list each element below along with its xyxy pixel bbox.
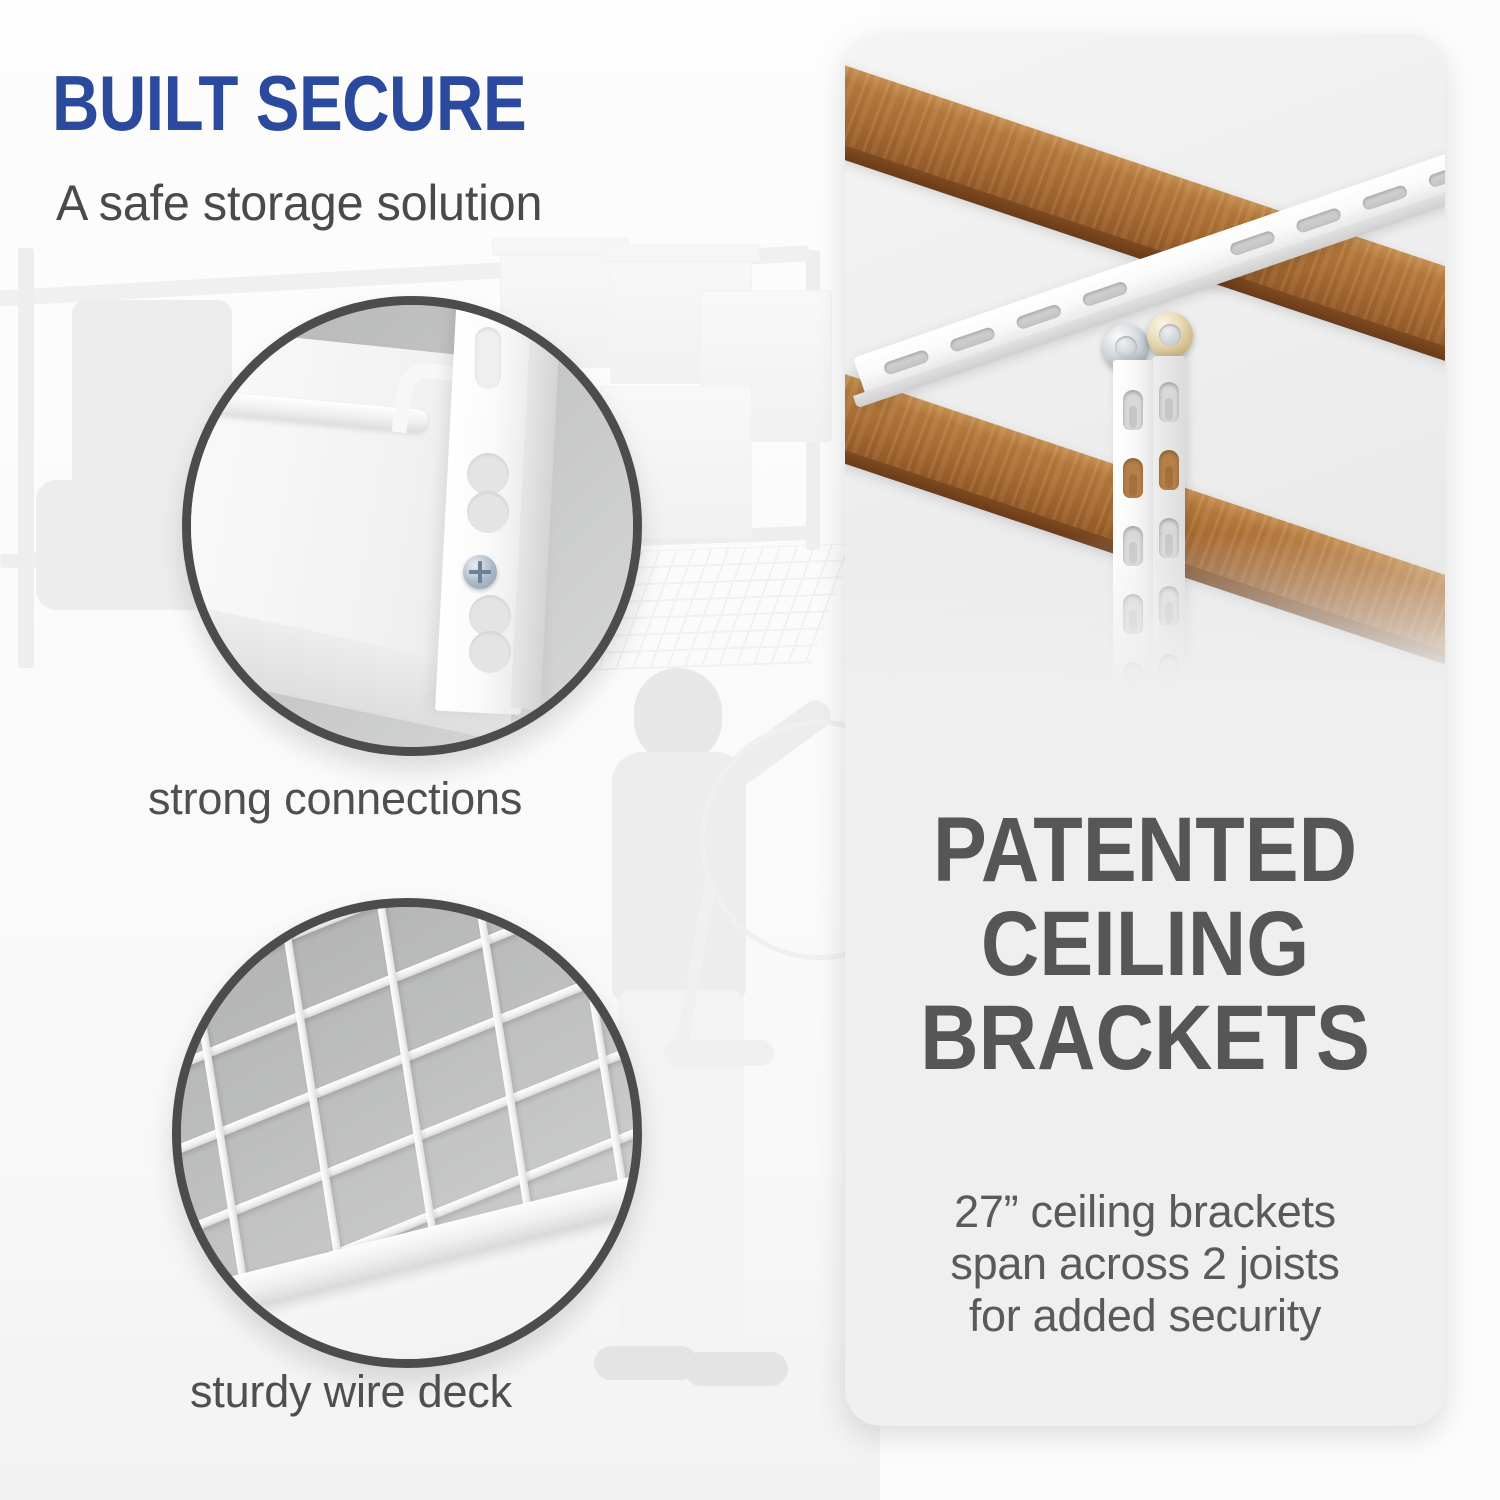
ceiling-bracket-panel: PATENTED CEILING BRACKETS 27” ceiling br… <box>845 34 1445 1426</box>
feature-photo-strong-connections <box>182 296 642 756</box>
panel-title-line-3: BRACKETS <box>881 992 1409 1086</box>
background-rack-post-right <box>806 250 820 550</box>
background-bin-1-lid <box>492 238 630 256</box>
page-subheadline: A safe storage solution <box>56 178 542 228</box>
upright-keyhole <box>1159 450 1179 490</box>
hex-screw <box>463 555 497 589</box>
background-rack-post-left <box>18 248 34 668</box>
infographic-canvas: BUILT SECURE A safe storage solution str… <box>0 0 1500 1500</box>
ceiling-bracket-photo <box>845 34 1445 724</box>
background-bicycle-pedal <box>664 1040 774 1066</box>
caption-wire-deck: sturdy wire deck <box>190 1366 512 1418</box>
upright-keyhole <box>1123 458 1143 498</box>
panel-title-line-2: CEILING <box>881 898 1409 992</box>
background-person-head <box>634 668 722 764</box>
feature-photo-wire-deck <box>172 898 642 1368</box>
upright-top-slot <box>475 327 501 389</box>
wire-deck-photo-inner <box>181 907 633 1359</box>
upright-slot-1b <box>467 491 509 533</box>
panel-description-line-3: for added security <box>863 1290 1427 1341</box>
panel-description-line-2: span across 2 joists <box>863 1238 1427 1289</box>
strong-connections-photo-inner <box>191 305 633 747</box>
upright-slot-1a <box>467 453 509 495</box>
upright-slot-2b <box>469 631 511 673</box>
background-bin-2-lid <box>602 244 760 262</box>
panel-description-line-1: 27” ceiling brackets <box>863 1186 1427 1237</box>
background-bin-3 <box>700 290 832 442</box>
upright-keyhole <box>1123 390 1143 430</box>
panel-title-line-1: PATENTED <box>881 804 1409 898</box>
rail-slot <box>1427 161 1445 188</box>
background-person-shoe-right <box>684 1352 788 1386</box>
caption-strong-connections: strong connections <box>148 773 522 825</box>
upright-keyhole <box>1159 382 1179 422</box>
page-headline: BUILT SECURE <box>52 66 526 140</box>
background-bicycle-frame <box>675 880 716 1050</box>
background-person-arm <box>714 695 837 796</box>
mounting-bolt-right <box>1147 312 1193 358</box>
photo-fade-overlay <box>845 534 1445 724</box>
